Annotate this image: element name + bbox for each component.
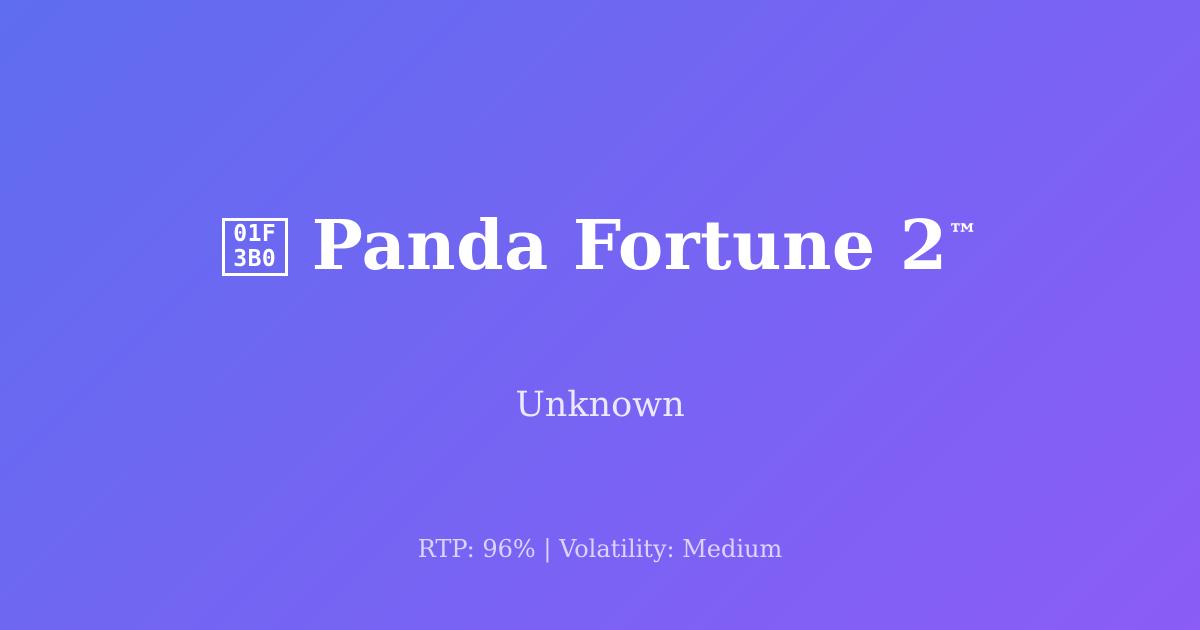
- game-title-text: Panda Fortune 2: [312, 206, 948, 286]
- game-provider-subtitle: Unknown: [515, 384, 684, 426]
- tofu-codepoint-bottom: 3B0: [233, 247, 276, 272]
- og-share-card: 01F 3B0 Panda Fortune 2™ Unknown RTP: 96…: [0, 0, 1200, 630]
- trademark-symbol: ™: [948, 218, 979, 254]
- slot-machine-emoji-missing-glyph-icon: 01F 3B0: [222, 218, 288, 276]
- page-title: Panda Fortune 2™: [312, 211, 978, 282]
- hero-block: 01F 3B0 Panda Fortune 2™ Unknown: [0, 166, 1200, 426]
- tofu-codepoint-top: 01F: [233, 222, 276, 247]
- game-stats-footer: RTP: 96% | Volatility: Medium: [0, 535, 1200, 564]
- title-row: 01F 3B0 Panda Fortune 2™: [222, 166, 978, 328]
